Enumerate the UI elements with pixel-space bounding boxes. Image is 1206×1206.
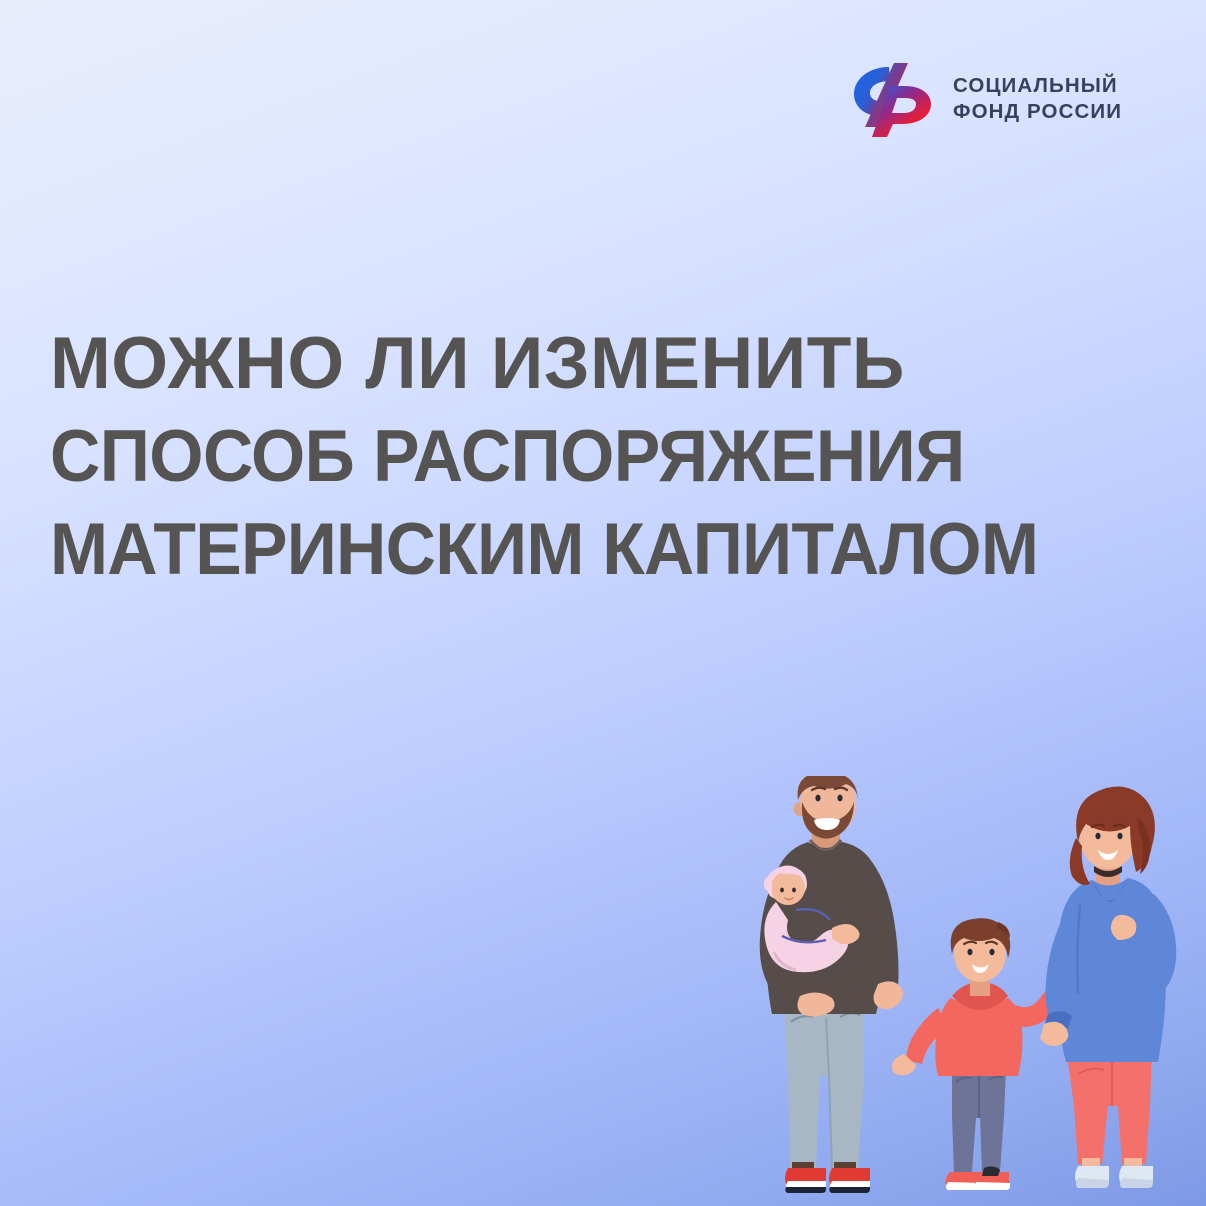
logo-line-1: СОЦИАЛЬНЫЙ: [953, 75, 1122, 97]
sfr-logo-text: СОЦИАЛЬНЫЙ ФОНД РОССИИ: [953, 73, 1122, 122]
poster-canvas: СОЦИАЛЬНЫЙ ФОНД РОССИИ МОЖНО ЛИ ИЗМЕНИТЬ…: [0, 0, 1206, 1206]
headline-line-2: СПОСОБ РАСПОРЯЖЕНИЯ: [50, 420, 1139, 493]
family-of-four-illustration: [736, 776, 1206, 1206]
headline-line-3: МАТЕРИНСКИМ КАПИТАЛОМ: [50, 513, 1139, 586]
father-figure: [760, 776, 903, 1193]
sfr-logo: СОЦИАЛЬНЫЙ ФОНД РОССИИ: [845, 57, 1122, 139]
logo-line-2: ФОНД РОССИИ: [953, 101, 1122, 123]
page-title: МОЖНО ЛИ ИЗМЕНИТЬ СПОСОБ РАСПОРЯЖЕНИЯ МА…: [50, 327, 1190, 586]
sfr-monogram-icon: [845, 57, 937, 139]
headline-line-1: МОЖНО ЛИ ИЗМЕНИТЬ: [50, 327, 1190, 400]
mother-figure: [1040, 787, 1176, 1188]
